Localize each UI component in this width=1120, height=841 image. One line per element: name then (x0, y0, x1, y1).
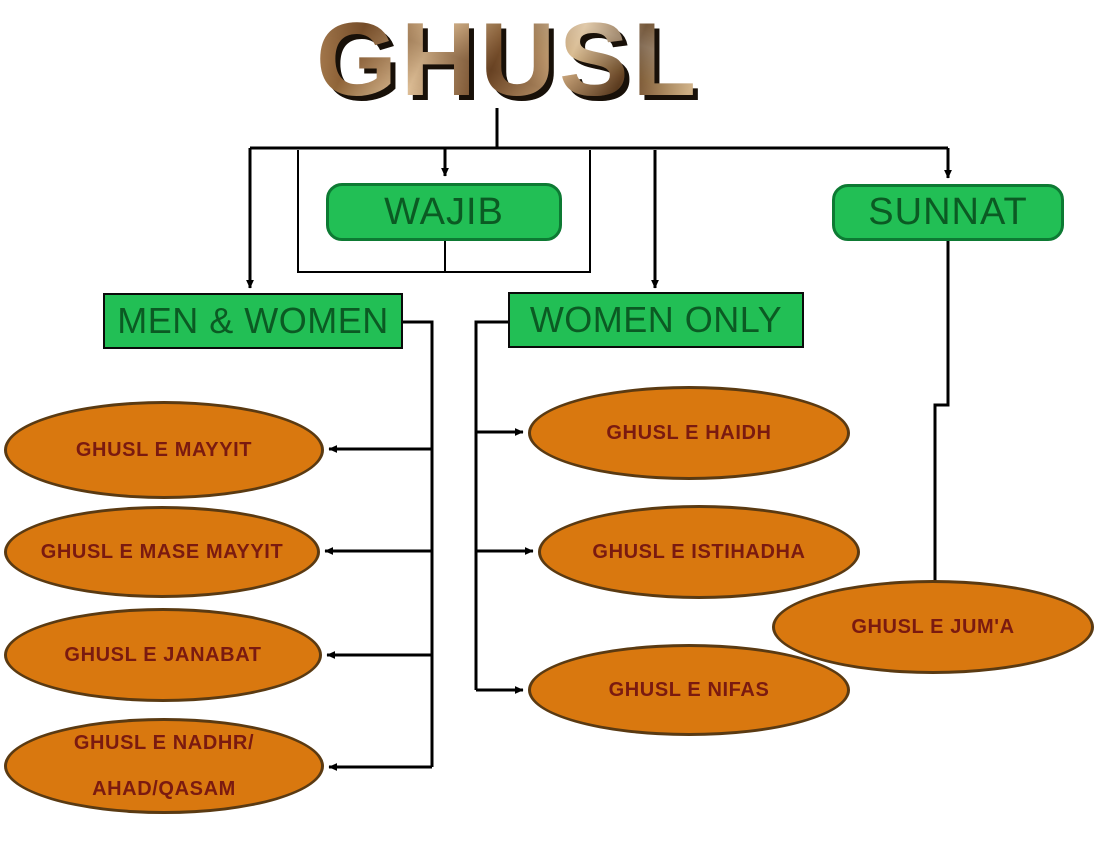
node-women-only[interactable]: WOMEN ONLY (508, 292, 804, 348)
node-sunnat-label: SUNNAT (868, 191, 1027, 234)
node-ghusl-e-haidh-label: GHUSL E HAIDH (580, 422, 797, 445)
node-ghusl-e-nadhr[interactable]: GHUSL E NADHR/ AHAD/QASAM (4, 718, 324, 814)
node-ghusl-e-mayyit-label: GHUSL E MAYYIT (50, 439, 278, 462)
node-sunnat[interactable]: SUNNAT (832, 184, 1064, 241)
node-men-and-women-label: MEN & WOMEN (117, 300, 389, 342)
node-ghusl-e-mase-mayyit-label: GHUSL E MASE MAYYIT (15, 541, 310, 564)
node-ghusl-e-haidh[interactable]: GHUSL E HAIDH (528, 386, 850, 480)
node-ghusl-e-nadhr-label: GHUSL E NADHR/ AHAD/QASAM (22, 732, 306, 801)
wire-men-women-bus (403, 322, 432, 767)
node-ghusl-e-nifas[interactable]: GHUSL E NIFAS (528, 644, 850, 736)
node-ghusl-e-mase-mayyit[interactable]: GHUSL E MASE MAYYIT (4, 506, 320, 598)
wire-women-only-bus (476, 322, 508, 690)
node-ghusl-e-janabat-label: GHUSL E JANABAT (38, 644, 287, 667)
node-ghusl-e-juma-label: GHUSL E JUM'A (825, 616, 1040, 639)
node-ghusl-e-mayyit[interactable]: GHUSL E MAYYIT (4, 401, 324, 499)
page-title: GHUSL (228, 4, 788, 116)
node-ghusl-e-nadhr-line2: AHAD/QASAM (48, 778, 280, 801)
node-ghusl-e-nifas-label: GHUSL E NIFAS (583, 679, 796, 702)
node-women-only-label: WOMEN ONLY (530, 299, 782, 341)
node-ghusl-e-nadhr-line1: GHUSL E NADHR/ (48, 732, 280, 755)
diagram-canvas: GHUSL WAJIB SUNNAT MEN & WOMEN WOMEN ONL… (0, 0, 1120, 841)
node-wajib[interactable]: WAJIB (326, 183, 562, 241)
node-ghusl-e-istihadha[interactable]: GHUSL E ISTIHADHA (538, 505, 860, 599)
node-ghusl-e-janabat[interactable]: GHUSL E JANABAT (4, 608, 322, 702)
node-men-and-women[interactable]: MEN & WOMEN (103, 293, 403, 349)
node-ghusl-e-juma[interactable]: GHUSL E JUM'A (772, 580, 1094, 674)
wire-sunnat-to-juma (935, 241, 948, 592)
node-wajib-label: WAJIB (384, 191, 504, 234)
node-ghusl-e-istihadha-label: GHUSL E ISTIHADHA (566, 541, 831, 564)
